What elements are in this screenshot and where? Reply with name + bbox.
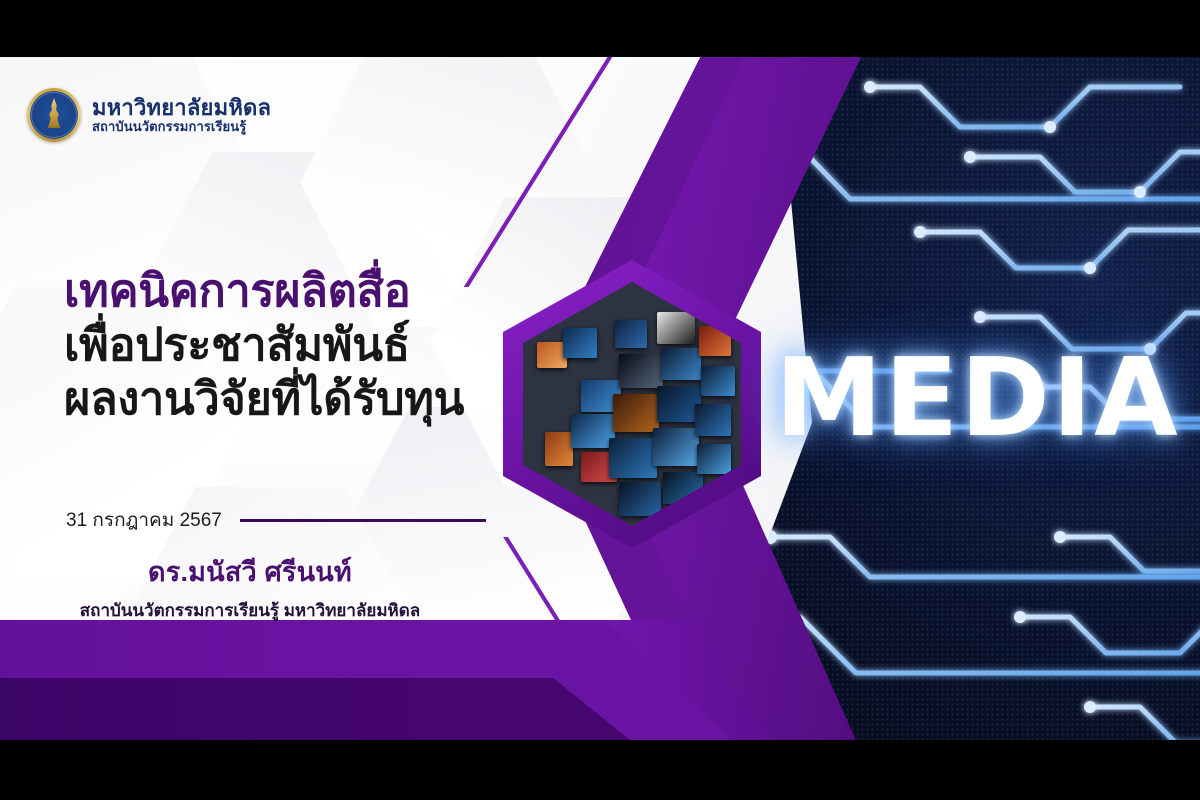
speaker-block: ดร.มนัสวี ศรีนนท์ สถาบันนวัตกรรมการเรียน… xyxy=(0,550,500,624)
letterbox-bar-top xyxy=(0,0,1200,57)
presentation-title-slide: มหาวิทยาลัยมหิดล สถาบันนวัตกรรมการเรียนร… xyxy=(0,0,1200,800)
feature-word-media: MEDIA xyxy=(775,336,1180,461)
speaker-name: ดร.มนัสวี ศรีนนท์ xyxy=(0,550,500,593)
letterbox-bar-bottom xyxy=(0,740,1200,800)
brand-text: มหาวิทยาลัยมหิดล สถาบันนวัตกรรมการเรียนร… xyxy=(92,96,271,134)
headline-line-2: เพื่อประชาสัมพันธ์ xyxy=(64,318,494,372)
headline-line-1: เทคนิคการผลิตสื่อ xyxy=(64,264,494,318)
organization-unit: สถาบันนวัตกรรมการเรียนรู้ xyxy=(92,120,271,134)
headline-line-3: ผลงานวิจัยที่ได้รับทุน xyxy=(64,372,494,426)
organization-name: มหาวิทยาลัยมหิดล xyxy=(92,96,271,120)
mahidol-university-seal-icon xyxy=(27,88,81,142)
seal-inner-ring xyxy=(31,92,77,138)
hero-hexagon xyxy=(503,260,761,548)
date-divider xyxy=(240,519,486,522)
purple-slab-dark xyxy=(0,678,630,740)
event-date: 31 กรกฎาคม 2567 xyxy=(66,505,222,535)
headline-block: เทคนิคการผลิตสื่อ เพื่อประชาสัมพันธ์ ผลง… xyxy=(64,264,494,426)
brand-lockup: มหาวิทยาลัยมหิดล สถาบันนวัตกรรมการเรียนร… xyxy=(27,88,271,142)
slide-stage: มหาวิทยาลัยมหิดล สถาบันนวัตกรรมการเรียนร… xyxy=(0,57,1200,740)
date-row: 31 กรกฎาคม 2567 xyxy=(66,505,486,535)
speaker-affiliation: สถาบันนวัตกรรมการเรียนรู้ มหาวิทยาลัยมหิ… xyxy=(0,597,500,624)
